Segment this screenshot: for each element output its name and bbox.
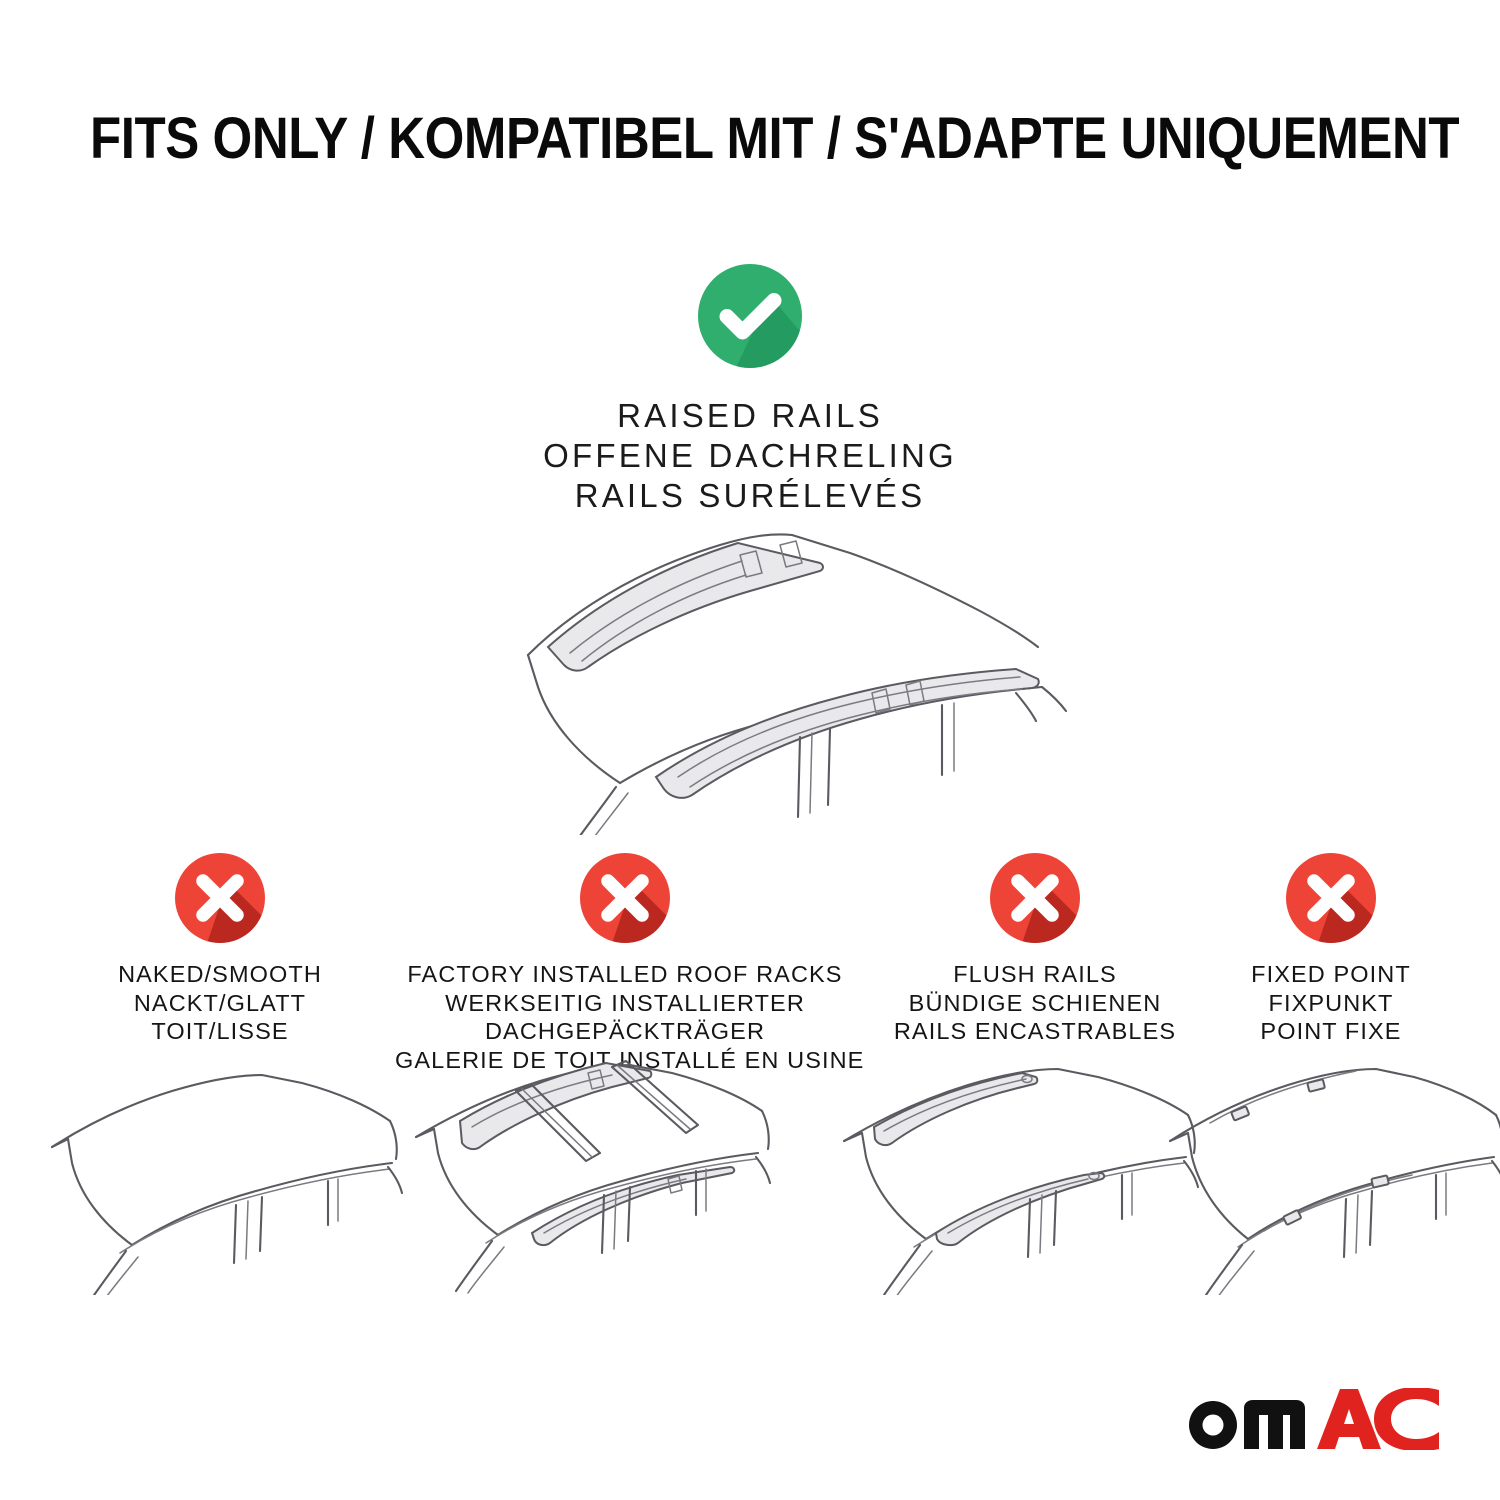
rejected-label-line-3: DACHGEPÄCKTRÄGER <box>395 1017 855 1046</box>
rejected-label-line-2: BÜNDIGE SCHIENEN <box>845 989 1225 1018</box>
x-circle-icon <box>1281 848 1381 948</box>
omac-logo <box>1180 1388 1440 1450</box>
rejected-section: NAKED/SMOOTH NACKT/GLATT TOIT/LISSE FACT… <box>0 848 1500 1058</box>
car-roof-raised-rails-illustration <box>420 505 1100 835</box>
car-roof-factory-racks-illustration <box>400 1055 790 1295</box>
approved-label-line-2: OFFENE DACHRELING <box>0 436 1500 476</box>
check-circle-icon <box>692 258 808 374</box>
page-title: FITS ONLY / KOMPATIBEL MIT / S'ADAPTE UN… <box>90 108 1410 170</box>
rejected-label-line-1: NAKED/SMOOTH <box>20 960 420 989</box>
rejected-label: FIXED POINT FIXPUNKT POINT FIXE <box>1200 960 1462 1046</box>
rejected-label-line-2: FIXPUNKT <box>1200 989 1462 1018</box>
x-circle-icon <box>985 848 1085 948</box>
x-circle-icon <box>575 848 675 948</box>
rejected-label: FLUSH RAILS BÜNDIGE SCHIENEN RAILS ENCAS… <box>845 960 1225 1046</box>
x-circle-icon <box>170 848 270 948</box>
rejected-item-flush-rails: FLUSH RAILS BÜNDIGE SCHIENEN RAILS ENCAS… <box>845 848 1225 1046</box>
rejected-item-naked-smooth: NAKED/SMOOTH NACKT/GLATT TOIT/LISSE <box>20 848 420 1046</box>
rejected-label-line-3: POINT FIXE <box>1200 1017 1462 1046</box>
rejected-label-line-3: TOIT/LISSE <box>20 1017 420 1046</box>
rejected-label-line-1: FACTORY INSTALLED ROOF RACKS <box>395 960 855 989</box>
approved-label-line-1: RAISED RAILS <box>0 396 1500 436</box>
rejected-label-line-1: FLUSH RAILS <box>845 960 1225 989</box>
rejected-label-line-2: NACKT/GLATT <box>20 989 420 1018</box>
car-roof-naked-smooth-illustration <box>40 1055 420 1295</box>
approved-section: RAISED RAILS OFFENE DACHRELING RAILS SUR… <box>0 258 1500 516</box>
rejected-item-fixed-point: FIXED POINT FIXPUNKT POINT FIXE <box>1200 848 1462 1046</box>
car-roof-fixed-point-illustration <box>1160 1055 1500 1295</box>
rejected-label-line-1: FIXED POINT <box>1200 960 1462 989</box>
rejected-label: NAKED/SMOOTH NACKT/GLATT TOIT/LISSE <box>20 960 420 1046</box>
rejected-label-line-2: WERKSEITIG INSTALLIERTER <box>395 989 855 1018</box>
rejected-item-factory-racks: FACTORY INSTALLED ROOF RACKS WERKSEITIG … <box>395 848 855 1074</box>
approved-label: RAISED RAILS OFFENE DACHRELING RAILS SUR… <box>0 396 1500 516</box>
rejected-label-line-3: RAILS ENCASTRABLES <box>845 1017 1225 1046</box>
compatibility-infographic: FITS ONLY / KOMPATIBEL MIT / S'ADAPTE UN… <box>0 0 1500 1500</box>
